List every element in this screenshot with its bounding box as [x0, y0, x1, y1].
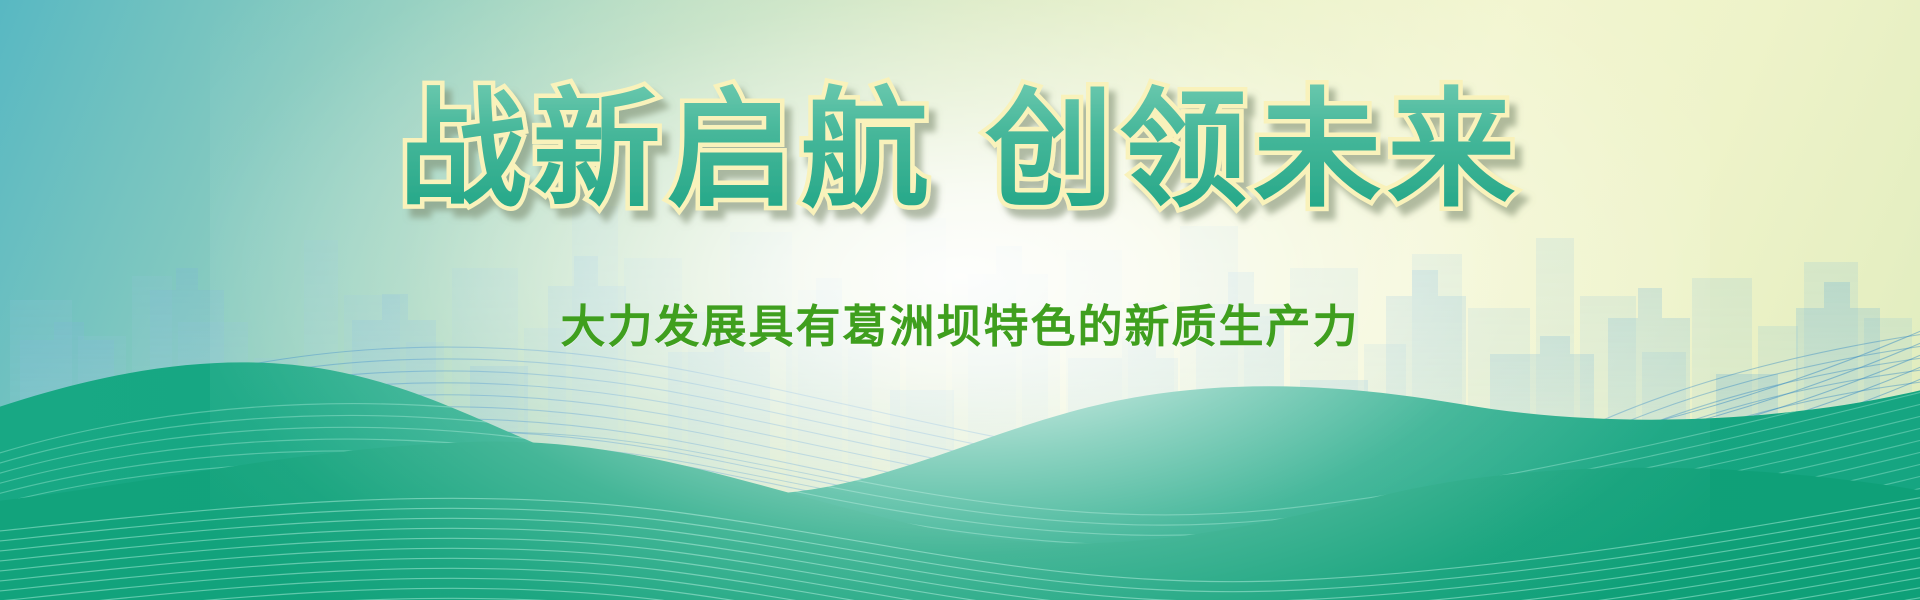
headline-container: 战新启航 创领未来 [0, 62, 1920, 245]
subtitle-container: 大力发展具有葛洲坝特色的新质生产力 [0, 290, 1920, 355]
promotional-banner: 战新启航 创领未来 大力发展具有葛洲坝特色的新质生产力 [0, 0, 1920, 600]
banner-content: 战新启航 创领未来 大力发展具有葛洲坝特色的新质生产力 [0, 0, 1920, 600]
headline-text: 战新启航 创领未来 [399, 76, 1522, 225]
subtitle-text: 大力发展具有葛洲坝特色的新质生产力 [560, 290, 1359, 355]
headline-art: 战新启航 创领未来 [360, 62, 1560, 240]
